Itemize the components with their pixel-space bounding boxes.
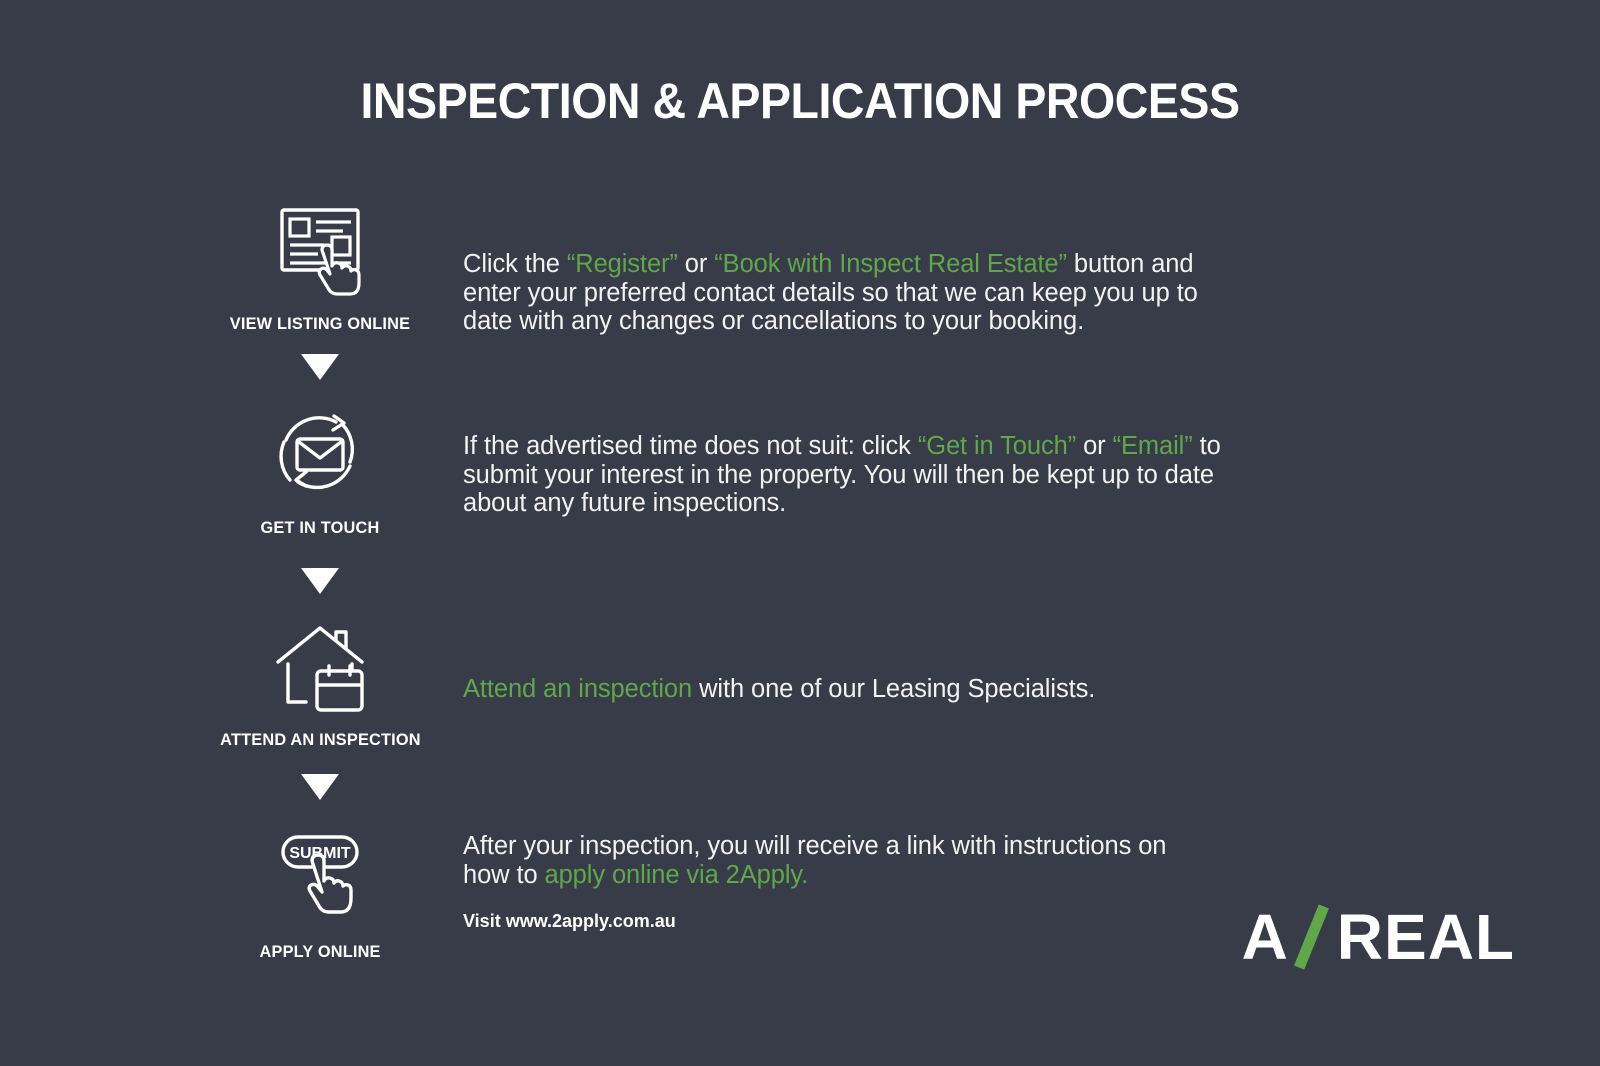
- step-label: VIEW LISTING ONLINE: [230, 314, 410, 334]
- step-label: GET IN TOUCH: [261, 518, 380, 538]
- brand-logo: A REAL: [1242, 906, 1515, 968]
- process-flow-column: VIEW LISTING ONLINE GET IN TOU: [160, 200, 480, 962]
- logo-letter-a: A: [1242, 906, 1289, 968]
- step-3-description: Attend an inspection with one of our Lea…: [463, 675, 1233, 704]
- house-calendar-icon: [261, 616, 379, 716]
- infographic-poster: INSPECTION & APPLICATION PROCESS VIEW LI…: [0, 0, 1600, 1066]
- plain-text: Click the: [463, 250, 567, 278]
- step-4-description: After your inspection, you will receive …: [463, 832, 1203, 889]
- down-triangle-icon: [301, 354, 339, 380]
- step-2-description: If the advertised time does not suit: cl…: [463, 432, 1228, 518]
- down-triangle-icon: [301, 568, 339, 594]
- page-title: INSPECTION & APPLICATION PROCESS: [56, 72, 1544, 130]
- accent-text: apply online via 2Apply.: [545, 861, 809, 889]
- plain-text: or: [678, 250, 714, 278]
- accent-text: “Email”: [1113, 432, 1193, 460]
- step-1-description: Click the “Register” or “Book with Inspe…: [463, 250, 1233, 336]
- step-apply-online: SUBMIT APPLY ONLINE: [160, 828, 480, 962]
- accent-text: “Register”: [567, 250, 678, 278]
- submit-button-cursor-icon: SUBMIT: [261, 828, 379, 928]
- plain-text: with one of our Leasing Specialists.: [692, 675, 1095, 703]
- visit-url-note: Visit www.2apply.com.au: [463, 911, 676, 932]
- connector-1: [160, 354, 480, 380]
- plain-text: If the advertised time does not suit: cl…: [463, 432, 918, 460]
- logo-slash-icon: [1293, 906, 1333, 968]
- plain-text: or: [1076, 432, 1112, 460]
- accent-text: “Book with Inspect Real Estate”: [714, 250, 1067, 278]
- step-label: APPLY ONLINE: [259, 942, 380, 962]
- step-view-listing-online: VIEW LISTING ONLINE: [160, 200, 480, 334]
- envelope-refresh-icon: [261, 404, 379, 504]
- connector-3: [160, 774, 480, 800]
- listing-window-cursor-icon: [261, 200, 379, 300]
- logo-word-real: REAL: [1337, 906, 1515, 968]
- accent-text: Attend an inspection: [463, 675, 692, 703]
- step-label: ATTEND AN INSPECTION: [220, 730, 421, 750]
- accent-text: “Get in Touch”: [918, 432, 1076, 460]
- connector-2: [160, 568, 480, 594]
- step-get-in-touch: GET IN TOUCH: [160, 404, 480, 538]
- step-attend-an-inspection: ATTEND AN INSPECTION: [160, 616, 480, 750]
- down-triangle-icon: [301, 774, 339, 800]
